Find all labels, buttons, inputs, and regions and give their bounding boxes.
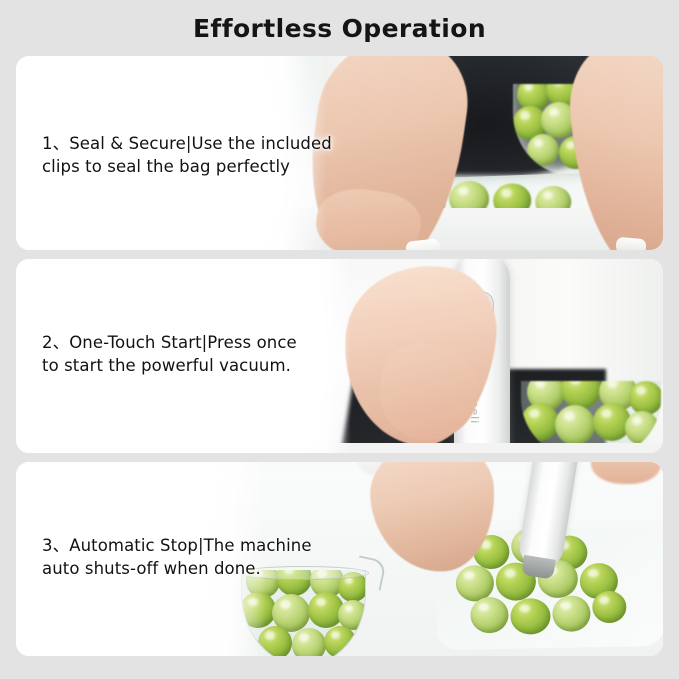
step-card-3: 3、Automatic Stop|The machine auto shuts-…: [16, 462, 663, 656]
step-1-text: 1、Seal & Secure|Use the included clips t…: [42, 132, 342, 179]
step-3-text: 3、Automatic Stop|The machine auto shuts-…: [42, 534, 342, 581]
seal-clip-right: [615, 237, 646, 250]
step-card-1: 1、Seal & Secure|Use the included clips t…: [16, 56, 663, 250]
steps-list: 1、Seal & Secure|Use the included clips t…: [16, 56, 663, 665]
step-2-text: 2、One-Touch Start|Press once to start th…: [42, 331, 342, 378]
product-feature-page: Effortless Operation: [0, 0, 679, 679]
page-header: Effortless Operation: [0, 0, 679, 56]
page-title: Effortless Operation: [193, 14, 486, 43]
step-card-2: homeli 2、One-Touch Start|Press once to s…: [16, 259, 663, 453]
